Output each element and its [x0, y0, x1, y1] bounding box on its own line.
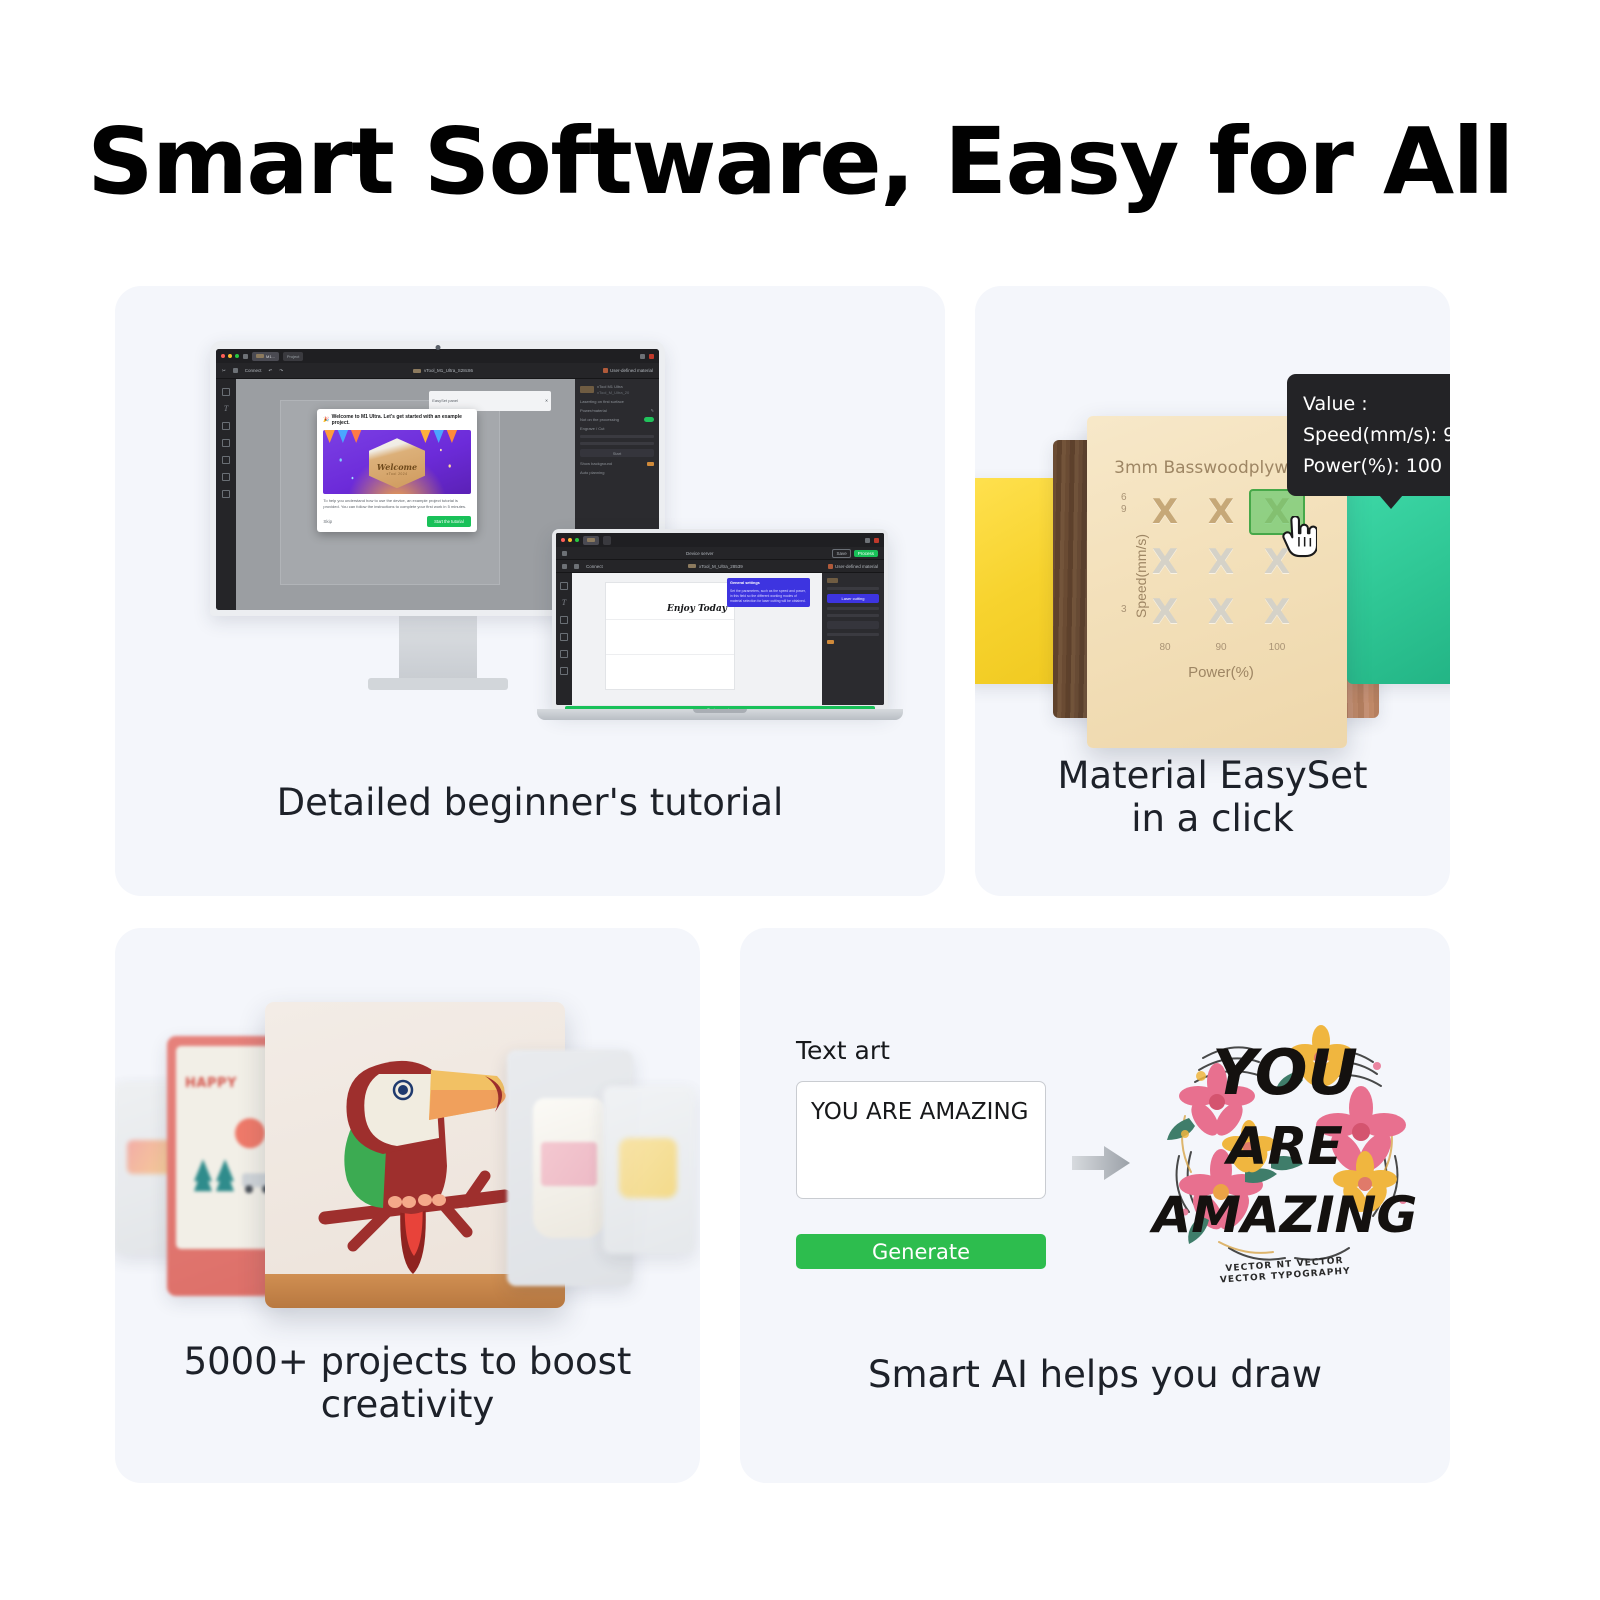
- tooltip-speed: Speed(mm/s): 9: [1303, 420, 1450, 451]
- device-header: [827, 578, 879, 583]
- x-tick-90: 90: [1215, 642, 1226, 653]
- color-swatch-icon[interactable]: [647, 462, 654, 466]
- skip-button[interactable]: Skip: [323, 519, 332, 524]
- frame-icon[interactable]: [233, 368, 238, 373]
- generate-button[interactable]: Generate: [796, 1234, 1046, 1269]
- cut-tool-icon[interactable]: ✂: [222, 368, 226, 374]
- tab-project[interactable]: [603, 536, 611, 545]
- swatch-basswood-test-board[interactable]: 3mm Basswoodplywood Speed(mm/s) 9 6 3 X …: [1087, 416, 1347, 748]
- tab-document[interactable]: [583, 536, 599, 545]
- minimize-icon[interactable]: [865, 538, 870, 543]
- project-thumb-far-right[interactable]: [603, 1086, 695, 1254]
- connect-button[interactable]: Connect: [586, 564, 603, 569]
- layers-icon[interactable]: [560, 650, 568, 658]
- x-tick-100: 100: [1269, 642, 1286, 653]
- dialog-body-text: To help you understand how to use the de…: [323, 498, 470, 510]
- laptop-base: [537, 709, 903, 720]
- y-tick-6: 6: [1121, 492, 1127, 503]
- text-art-label: Text art: [796, 1036, 1046, 1065]
- toggle-switch[interactable]: [644, 417, 654, 422]
- laptop-settings-panel[interactable]: Laser cutting Start processing: [822, 573, 884, 705]
- laptop-canvas[interactable]: Enjoy Today General settings Set the par…: [572, 573, 822, 705]
- card-caption-easyset-2: in a click: [975, 797, 1450, 840]
- webcam-icon: [435, 345, 440, 350]
- grid-icon[interactable]: [560, 667, 568, 675]
- test-cell-80-6[interactable]: X: [1141, 542, 1189, 582]
- setting-item-1[interactable]: Power/material ✎: [580, 408, 654, 413]
- floral-typography-artwork: YOU ARE AMAZING: [1145, 1006, 1425, 1286]
- test-cell-100-3[interactable]: X: [1253, 592, 1301, 632]
- shape-icon[interactable]: [560, 616, 568, 624]
- undo-icon[interactable]: ↶: [269, 368, 273, 374]
- image-icon[interactable]: [560, 582, 568, 590]
- app-toolbar: ✂ Connect ↶ ↷ vTool_M1_Ultra_S28c86 User…: [216, 363, 659, 379]
- app-titlebar: M1... Project: [216, 349, 659, 363]
- card-smart-ai[interactable]: Text art Generate: [740, 928, 1450, 1483]
- tooltip-heading: Value :: [1303, 389, 1450, 420]
- card-caption-projects-2: creativity: [115, 1383, 700, 1426]
- project-carousel[interactable]: HAPPY: [115, 990, 700, 1320]
- design-canvas[interactable]: EasySet panel ✕ 🎉 Welcome to M1 Ultra. L…: [236, 379, 575, 610]
- welcome-dialog[interactable]: 🎉 Welcome to M1 Ultra. Let's get started…: [317, 409, 476, 532]
- x-tick-80: 80: [1159, 642, 1170, 653]
- pen-icon[interactable]: [560, 633, 568, 641]
- app-window-laptop: Device server Save Process Connect: [556, 533, 884, 705]
- card-detailed-tutorial[interactable]: M1... Project ✂ Connect: [115, 286, 945, 896]
- parameter-test-grid: Speed(mm/s) 9 6 3 X X X X X X X X X: [1133, 492, 1309, 660]
- test-cell-90-3[interactable]: X: [1197, 592, 1245, 632]
- art-line-you: YOU: [1212, 1036, 1358, 1109]
- setting-item-2[interactable]: Not on the processing: [580, 417, 654, 422]
- pen-icon[interactable]: [222, 439, 230, 447]
- left-toolbar[interactable]: T: [556, 573, 572, 705]
- tooltip-arrow-icon: [1379, 495, 1403, 509]
- start-tutorial-button[interactable]: Start the tutorial: [427, 516, 471, 527]
- device-header: xTool M1 Ultra xTool_M_Ultra_20: [580, 384, 654, 395]
- traffic-lights-icon[interactable]: [561, 538, 579, 542]
- image-icon[interactable]: [222, 388, 230, 396]
- y-tick-3: 3: [1121, 604, 1127, 615]
- material-swatch-icon: [603, 368, 608, 373]
- cut-tool-icon[interactable]: [562, 564, 567, 569]
- document-name: vTool_M1_Ultra_S28c86: [413, 368, 473, 373]
- color-swatch-icon[interactable]: [827, 640, 834, 644]
- redo-icon[interactable]: ↷: [279, 368, 283, 374]
- test-cell-90-6[interactable]: X: [1197, 542, 1245, 582]
- card-projects-gallery[interactable]: HAPPY: [115, 928, 700, 1483]
- tab-label: M1...: [266, 354, 275, 359]
- hand-cursor-icon: [1279, 516, 1317, 560]
- card-caption-tutorial: Detailed beginner's tutorial: [115, 781, 945, 824]
- highlighted-setting[interactable]: Laser cutting: [827, 594, 879, 603]
- test-cell-90-9[interactable]: X: [1197, 492, 1245, 532]
- doc-thumb-icon: [688, 564, 696, 568]
- frame-icon[interactable]: [574, 564, 579, 569]
- material-swatch-icon: [828, 564, 833, 569]
- test-cell-80-9[interactable]: X: [1141, 492, 1189, 532]
- divider: [827, 607, 879, 610]
- sidebar-toggle-icon[interactable]: [243, 354, 248, 359]
- canvas-sheet: [605, 582, 735, 690]
- setting-item-0[interactable]: Laserting on first surface: [580, 399, 654, 404]
- card-caption-easyset: Material EasySet: [975, 754, 1450, 797]
- tooltip-power: Power(%): 100: [1303, 451, 1450, 482]
- tab-project[interactable]: Project: [283, 352, 303, 361]
- file-thumb-icon: [256, 354, 264, 358]
- laptop-toolbar-1: Device server Save Process: [556, 547, 884, 560]
- device-status: Device server: [686, 551, 714, 556]
- grid-icon[interactable]: [222, 490, 230, 498]
- close-icon[interactable]: [874, 538, 879, 543]
- parameter-tooltip: Value : Speed(mm/s): 9 Power(%): 100: [1287, 374, 1450, 496]
- y-tick-9: 9: [1121, 504, 1127, 515]
- dialog-hero-image: Welcome xTool 2024: [323, 430, 470, 494]
- art-line-amazing: AMAZING: [1149, 1186, 1418, 1244]
- material-preview-icon: [827, 578, 838, 583]
- traffic-lights-icon[interactable]: [221, 354, 239, 358]
- laptop-screen: Device server Save Process Connect: [552, 529, 888, 709]
- bag-print: [541, 1142, 597, 1186]
- background-row[interactable]: [827, 640, 879, 644]
- left-toolbar[interactable]: T: [216, 379, 236, 610]
- bell-icon[interactable]: [640, 354, 645, 359]
- x-axis-label: Power(%): [1133, 664, 1309, 681]
- layers-icon[interactable]: [222, 456, 230, 464]
- text-art-form: Text art Generate: [796, 1036, 1046, 1269]
- auto-planning-label: Auto planning: [580, 470, 654, 475]
- material-badge[interactable]: User-defined material: [603, 368, 653, 373]
- device-label: Device server: [686, 551, 714, 556]
- divider: [827, 614, 879, 617]
- doc-thumb-icon: [413, 369, 421, 373]
- laptop-toolbar-2: Connect xTool_M_Ultra_28539 User-defined…: [556, 560, 884, 573]
- arrow-right-icon: [1070, 1143, 1132, 1183]
- toucan-wood-art: [317, 1046, 517, 1276]
- shape-icon[interactable]: [222, 422, 230, 430]
- party-icon: 🎉: [323, 417, 329, 423]
- process-button[interactable]: Process: [854, 550, 878, 557]
- card-material-easyset[interactable]: 3mm Basswoodplywood Speed(mm/s) 9 6 3 X …: [975, 286, 1450, 896]
- text-icon[interactable]: T: [222, 405, 230, 413]
- setting-item-3[interactable]: Engrave / Cut: [580, 426, 654, 431]
- laptop-mockup: Device server Save Process Connect: [552, 529, 888, 720]
- edit-icon[interactable]: ✎: [651, 408, 654, 413]
- material-swatch-stack: 3mm Basswoodplywood Speed(mm/s) 9 6 3 X …: [975, 416, 1450, 746]
- general-settings-tooltip[interactable]: General settings Set the parameters, suc…: [727, 578, 810, 607]
- design-text: Enjoy Today: [667, 604, 727, 614]
- tab-document[interactable]: M1...: [252, 352, 279, 361]
- divider: [827, 587, 879, 590]
- laptop-titlebar: [556, 533, 884, 547]
- frame-tool-icon[interactable]: [222, 473, 230, 481]
- tab-label: Project: [287, 354, 299, 359]
- panel-button[interactable]: [827, 621, 879, 629]
- divider: [580, 442, 654, 445]
- monitor-stand-foot: [368, 678, 508, 690]
- feature-page: Smart Software, Easy for All M1...: [0, 0, 1600, 1600]
- monitor-stand-neck: [399, 616, 477, 678]
- dialog-title-row: 🎉 Welcome to M1 Ultra. Let's get started…: [323, 414, 470, 426]
- file-thumb-icon: [587, 538, 595, 542]
- start-button[interactable]: Start: [580, 449, 654, 457]
- test-cell-80-3[interactable]: X: [1141, 592, 1189, 632]
- material-preview-icon: [580, 386, 594, 393]
- background-row[interactable]: Show background: [580, 461, 654, 466]
- divider: [827, 633, 879, 636]
- avatar[interactable]: [649, 354, 654, 359]
- connect-icon[interactable]: [562, 551, 567, 556]
- card-caption-ai: Smart AI helps you draw: [740, 1353, 1450, 1396]
- connect-button[interactable]: Connect: [245, 368, 262, 373]
- card-caption-projects: 5000+ projects to boost: [115, 1340, 700, 1383]
- generated-text-art: YOU ARE AMAZING VECTOR NT VECTOR VECTOR …: [1145, 1006, 1425, 1286]
- text-art-input[interactable]: [796, 1081, 1046, 1199]
- text-icon[interactable]: T: [560, 599, 568, 607]
- divider: [580, 435, 654, 438]
- art-line-are: ARE: [1223, 1117, 1343, 1177]
- page-title: Smart Software, Easy for All: [0, 108, 1600, 215]
- laptop-workarea: T Enjoy Today General settings Set the: [556, 573, 884, 705]
- dialog-actions: Skip Start the tutorial: [323, 516, 470, 527]
- save-button[interactable]: Save: [832, 549, 850, 558]
- close-icon[interactable]: ✕: [545, 398, 548, 403]
